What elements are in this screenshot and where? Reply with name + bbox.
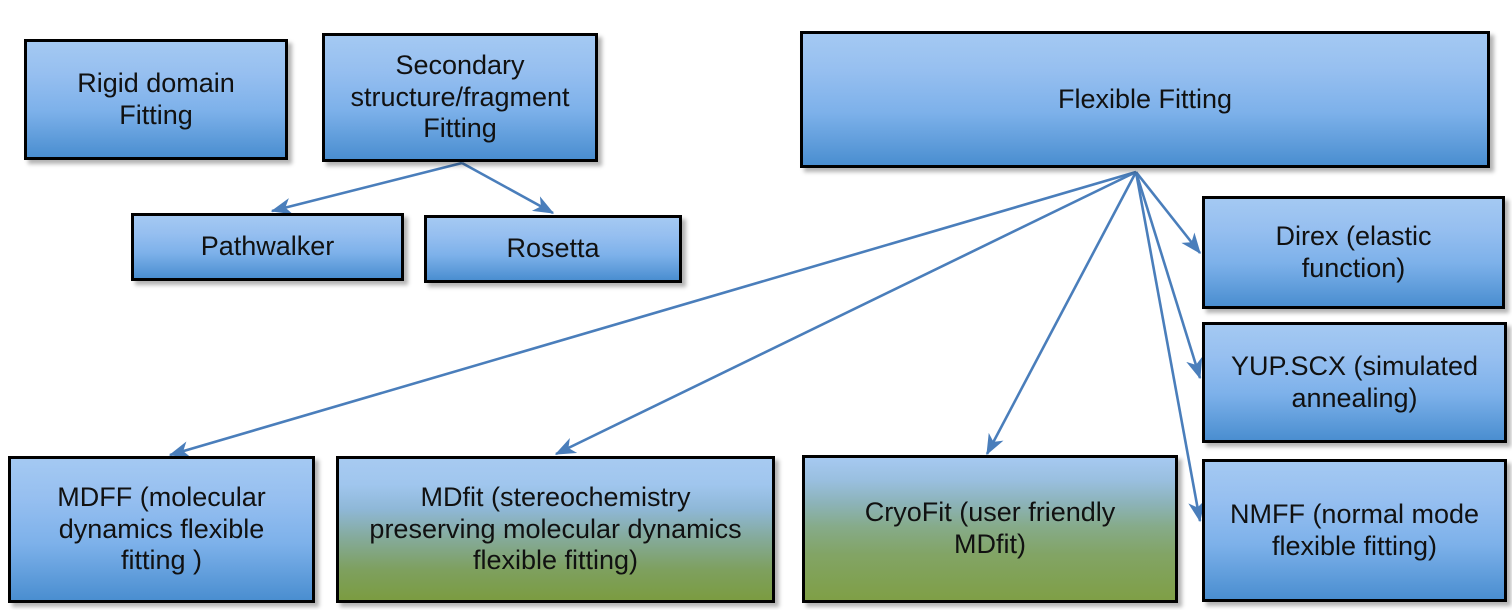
node-flexible-fitting[interactable]: Flexible Fitting xyxy=(800,31,1490,168)
node-secondary-structure-fragment-fitting[interactable]: Secondary structure/fragment Fitting xyxy=(322,33,598,162)
node-label: Direx (elastic function) xyxy=(1213,221,1494,285)
node-label: Rosetta xyxy=(435,233,671,265)
connector-flexible-to-cryofit xyxy=(987,172,1136,454)
node-direx[interactable]: Direx (elastic function) xyxy=(1202,196,1505,309)
connector-secondary-to-pathwalker xyxy=(272,163,462,211)
node-label: MDFF (molecular dynamics flexible fittin… xyxy=(19,482,304,578)
node-label: NMFF (normal mode flexible fitting) xyxy=(1213,499,1496,563)
node-label: CryoFit (user friendly MDfit) xyxy=(813,497,1167,561)
node-mdff[interactable]: MDFF (molecular dynamics flexible fittin… xyxy=(8,456,315,603)
node-rosetta[interactable]: Rosetta xyxy=(424,215,682,283)
node-label: Flexible Fitting xyxy=(811,84,1479,116)
node-yup-scx[interactable]: YUP.SCX (simulated annealing) xyxy=(1202,322,1507,443)
node-label: Rigid domain Fitting xyxy=(35,68,277,132)
connector-secondary-to-rosetta xyxy=(462,163,553,213)
connector-flexible-to-direx xyxy=(1136,172,1200,253)
node-nmff[interactable]: NMFF (normal mode flexible fitting) xyxy=(1202,459,1507,602)
connector-flexible-to-yupscx xyxy=(1136,172,1200,378)
node-cryofit[interactable]: CryoFit (user friendly MDfit) xyxy=(802,455,1178,603)
node-rigid-domain-fitting[interactable]: Rigid domain Fitting xyxy=(24,39,288,160)
node-label: MDfit (stereochemistry preserving molecu… xyxy=(347,482,764,578)
node-label: Pathwalker xyxy=(142,231,393,263)
node-label: Secondary structure/fragment Fitting xyxy=(333,50,587,146)
node-label: YUP.SCX (simulated annealing) xyxy=(1213,351,1496,415)
diagram-canvas: Rigid domain FittingSecondary structure/… xyxy=(0,0,1512,610)
node-mdfit[interactable]: MDfit (stereochemistry preserving molecu… xyxy=(336,456,775,603)
node-pathwalker[interactable]: Pathwalker xyxy=(131,213,404,281)
